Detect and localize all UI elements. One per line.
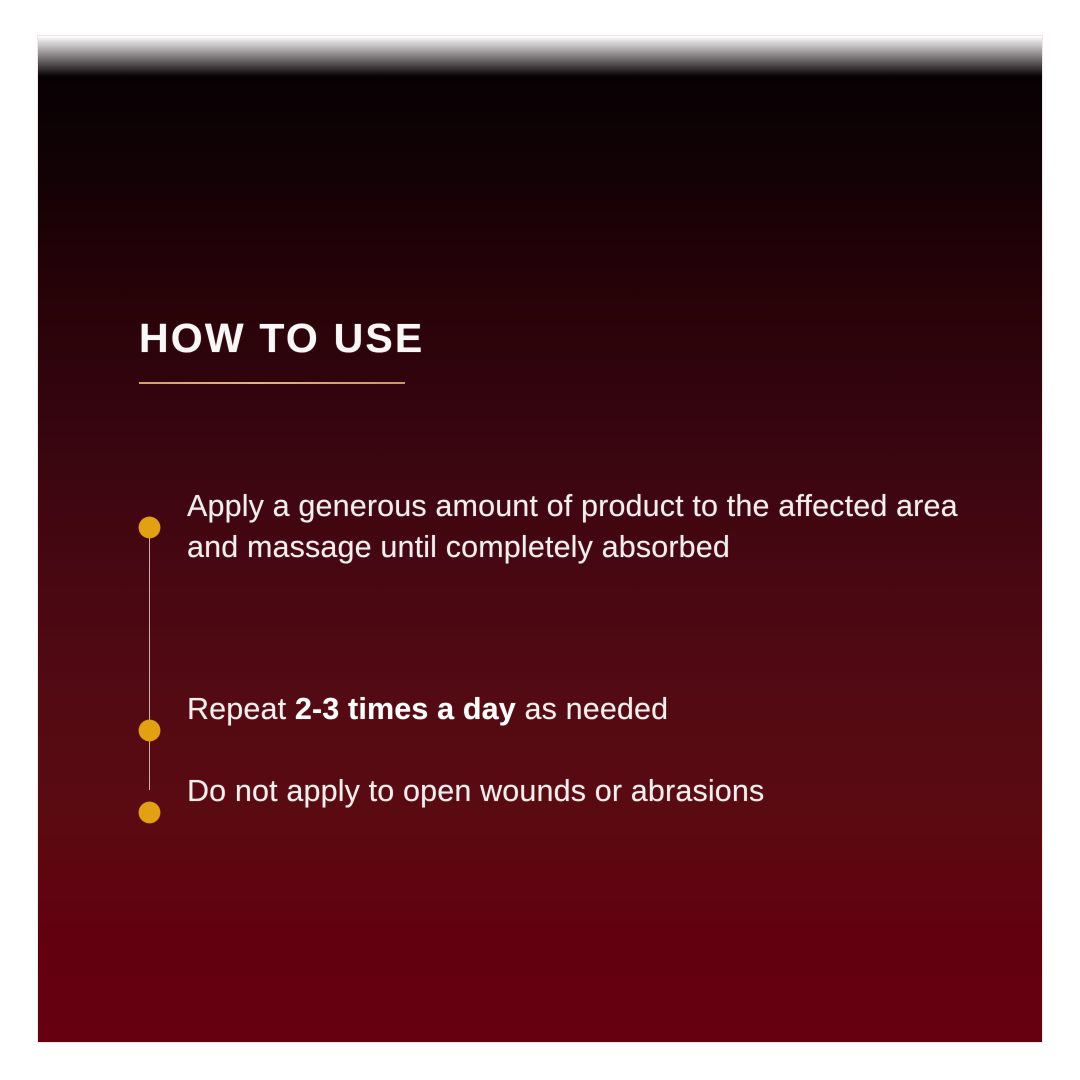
heading-underline-divider	[139, 382, 405, 384]
list-item-text: Apply a generous amount of product to th…	[187, 486, 969, 568]
bullet-dot-icon	[139, 720, 160, 741]
bullet-cell	[139, 486, 187, 487]
bullet-dot-icon	[139, 517, 160, 538]
list-item-text-lead: Apply a generous amount of product to th…	[187, 489, 958, 564]
list-item: Repeat 2-3 times a day as needed	[139, 689, 969, 730]
bullet-dot-icon	[139, 802, 160, 823]
list-item-text-lead: Do not apply to open wounds or abrasions	[187, 774, 764, 808]
list-item-text: Do not apply to open wounds or abrasions	[187, 771, 969, 812]
list-item-text-emphasis: 2-3 times a day	[295, 692, 516, 726]
page-title: HOW TO USE	[139, 316, 939, 361]
bullet-cell	[139, 689, 187, 690]
heading-block: HOW TO USE	[139, 316, 939, 384]
list-item: Do not apply to open wounds or abrasions	[139, 771, 969, 812]
list-item: Apply a generous amount of product to th…	[139, 486, 969, 568]
list-item-text: Repeat 2-3 times a day as needed	[187, 689, 969, 730]
list-item-text-lead: Repeat	[187, 692, 295, 726]
instruction-card: HOW TO USE Apply a generous amount of pr…	[38, 36, 1042, 1042]
steps-list: Apply a generous amount of product to th…	[139, 486, 969, 812]
bullet-cell	[139, 771, 187, 772]
slide-root: HOW TO USE Apply a generous amount of pr…	[0, 0, 1080, 1080]
list-item-text-tail: as needed	[516, 692, 668, 726]
